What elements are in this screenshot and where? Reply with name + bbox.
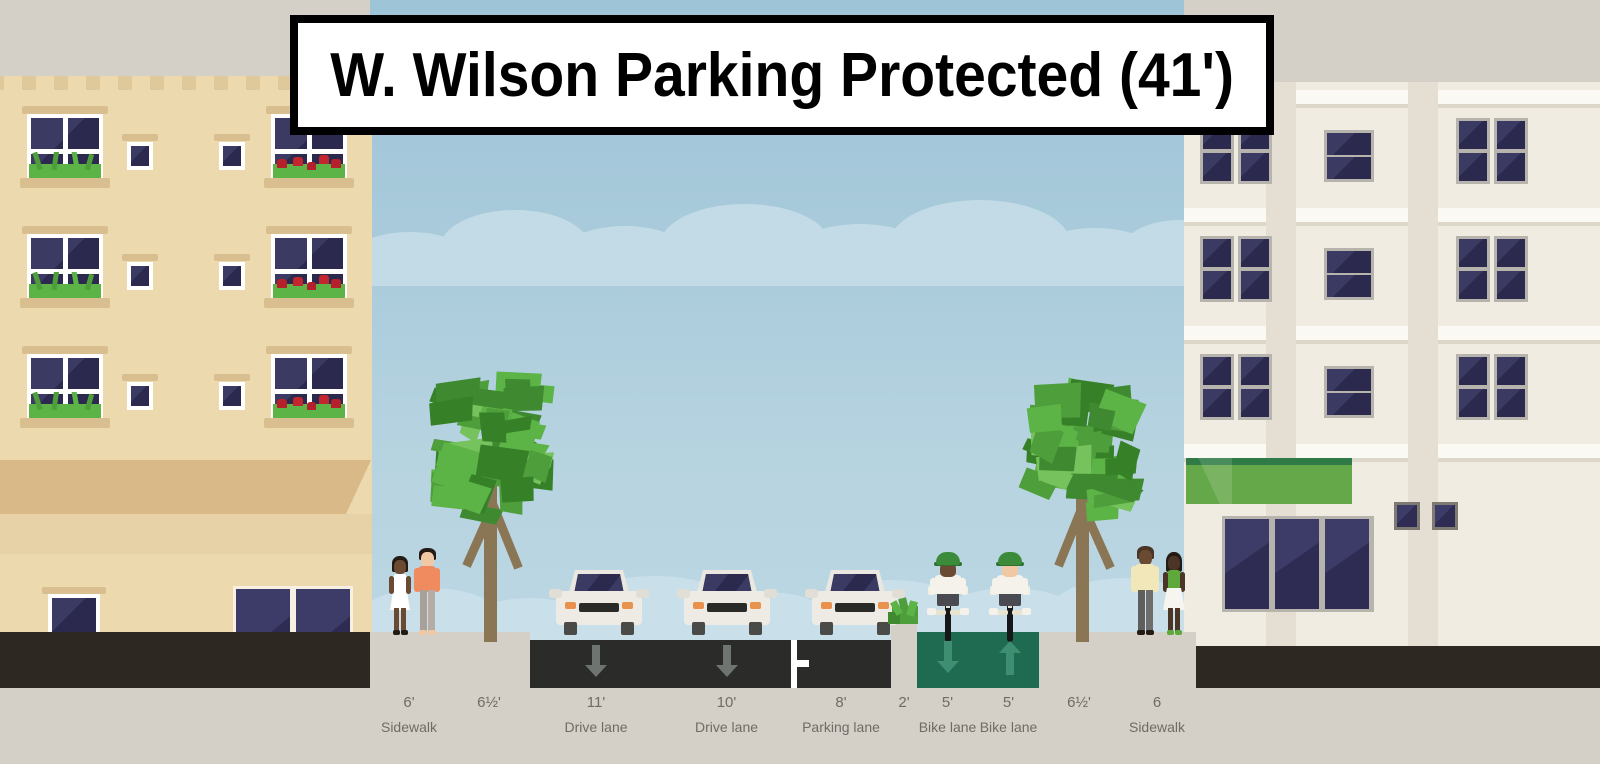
pedestrian-left-1 (386, 556, 414, 636)
building-left-awning (0, 460, 372, 514)
dimension-label-5: 2' (891, 694, 917, 718)
cyclist-northbound (984, 552, 1036, 644)
pedestrian-right-2 (1160, 552, 1188, 636)
dimension-value: 2' (891, 694, 917, 712)
cyclist-southbound (922, 552, 974, 644)
dimension-value: 6½' (448, 694, 530, 712)
dimension-name: Parking lane (791, 718, 891, 736)
dimension-value: 6½' (1039, 694, 1119, 712)
building-right-small-window (1394, 502, 1420, 530)
dimension-value: 5' (917, 694, 978, 712)
street-tree-left (424, 366, 560, 642)
pedestrian-right-1 (1130, 546, 1160, 636)
dimension-label-4: 8'Parking lane (791, 694, 891, 736)
pedestrian-left-2 (412, 548, 442, 636)
dimension-name: Drive lane (530, 718, 662, 736)
page-title: W. Wilson Parking Protected (41') (330, 40, 1234, 111)
car-drive-lane-2 (680, 570, 774, 636)
dimension-value: 5' (978, 694, 1039, 712)
dimension-label-1: 6½' (448, 694, 530, 718)
dimension-value: 8' (791, 694, 891, 712)
building-right-base (1196, 646, 1600, 688)
building-left (0, 76, 372, 646)
building-right-small-window (1432, 502, 1458, 530)
dimension-name: Bike lane (917, 718, 978, 736)
awning-right-storefront (1186, 458, 1352, 504)
window-lintel (42, 587, 106, 594)
street-cross-section-illustration: W. Wilson Parking Protected (41') 6'Side… (0, 0, 1600, 764)
dimension-value: 6 (1119, 694, 1195, 712)
dimension-label-7: 5'Bike lane (978, 694, 1039, 736)
dimension-value: 6' (370, 694, 448, 712)
dimension-name: Bike lane (978, 718, 1039, 736)
dimension-value: 11' (530, 694, 662, 712)
building-left-ground-band (0, 514, 372, 554)
title-banner: W. Wilson Parking Protected (41') (290, 15, 1274, 135)
pilaster (1408, 82, 1438, 646)
dimension-label-8: 6½' (1039, 694, 1119, 718)
building-left-base (0, 632, 372, 688)
car-drive-lane-1 (552, 570, 646, 636)
dimension-value: 10' (662, 694, 791, 712)
dimension-label-0: 6'Sidewalk (370, 694, 448, 736)
storefront-right (1222, 516, 1374, 612)
dimension-name: Drive lane (662, 718, 791, 736)
dimension-label-3: 10'Drive lane (662, 694, 791, 736)
dimension-label-9: 6Sidewalk (1119, 694, 1195, 736)
dimension-name: Sidewalk (1119, 718, 1195, 736)
dimension-label-6: 5'Bike lane (917, 694, 978, 736)
cloud-band-upper (370, 216, 1184, 286)
buffer-planter-bush (888, 596, 922, 626)
dimension-label-2: 11'Drive lane (530, 694, 662, 736)
dimension-name: Sidewalk (370, 718, 448, 736)
